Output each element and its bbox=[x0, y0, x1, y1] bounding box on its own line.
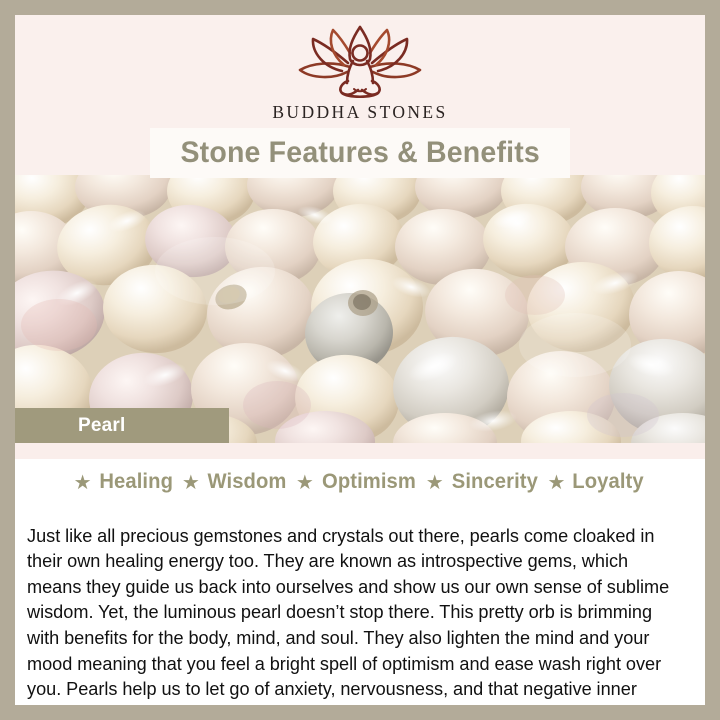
corner-notch bbox=[15, 15, 227, 31]
star-icon: ★ bbox=[426, 473, 444, 493]
star-icon: ★ bbox=[74, 473, 92, 493]
benefit-item-optimism: ★ Optimism bbox=[296, 469, 419, 494]
brand-name: BUDDHA STONES bbox=[272, 102, 447, 123]
star-icon: ★ bbox=[296, 473, 314, 493]
benefits-row: ★ Healing ★ Wisdom ★ Optimism ★ Sincerit… bbox=[15, 469, 705, 494]
star-icon: ★ bbox=[182, 473, 200, 493]
pearl-pile-illustration bbox=[15, 175, 705, 443]
benefit-label: Loyalty bbox=[573, 469, 644, 494]
benefit-item-sincerity: ★ Sincerity bbox=[426, 469, 541, 494]
benefit-item-wisdom: ★ Wisdom bbox=[182, 469, 289, 494]
hero-image: Pearl bbox=[15, 175, 705, 443]
star-icon: ★ bbox=[547, 473, 565, 493]
stone-name-tag: Pearl bbox=[15, 408, 229, 443]
benefit-item-healing: ★ Healing bbox=[74, 469, 175, 494]
benefit-label: Sincerity bbox=[451, 469, 537, 494]
stone-name-label: Pearl bbox=[78, 415, 125, 437]
benefit-label: Wisdom bbox=[207, 469, 286, 494]
brand-logo-block: BUDDHA STONES bbox=[15, 23, 705, 123]
title-banner: Stone Features & Benefits bbox=[150, 128, 570, 178]
lotus-meditation-icon bbox=[292, 23, 428, 101]
benefit-label: Healing bbox=[99, 469, 173, 494]
benefit-item-loyalty: ★ Loyalty bbox=[547, 469, 646, 494]
description-text: Just like all precious gemstones and cry… bbox=[27, 523, 676, 705]
page-title: Stone Features & Benefits bbox=[180, 136, 540, 170]
content-card: ★ Healing ★ Wisdom ★ Optimism ★ Sincerit… bbox=[15, 443, 705, 705]
brand-header: BUDDHA STONES bbox=[15, 15, 705, 130]
content-top-strip bbox=[15, 443, 705, 459]
poster-root: BUDDHA STONES bbox=[0, 0, 720, 720]
page-panel: BUDDHA STONES bbox=[15, 15, 705, 705]
benefit-label: Optimism bbox=[322, 469, 416, 494]
